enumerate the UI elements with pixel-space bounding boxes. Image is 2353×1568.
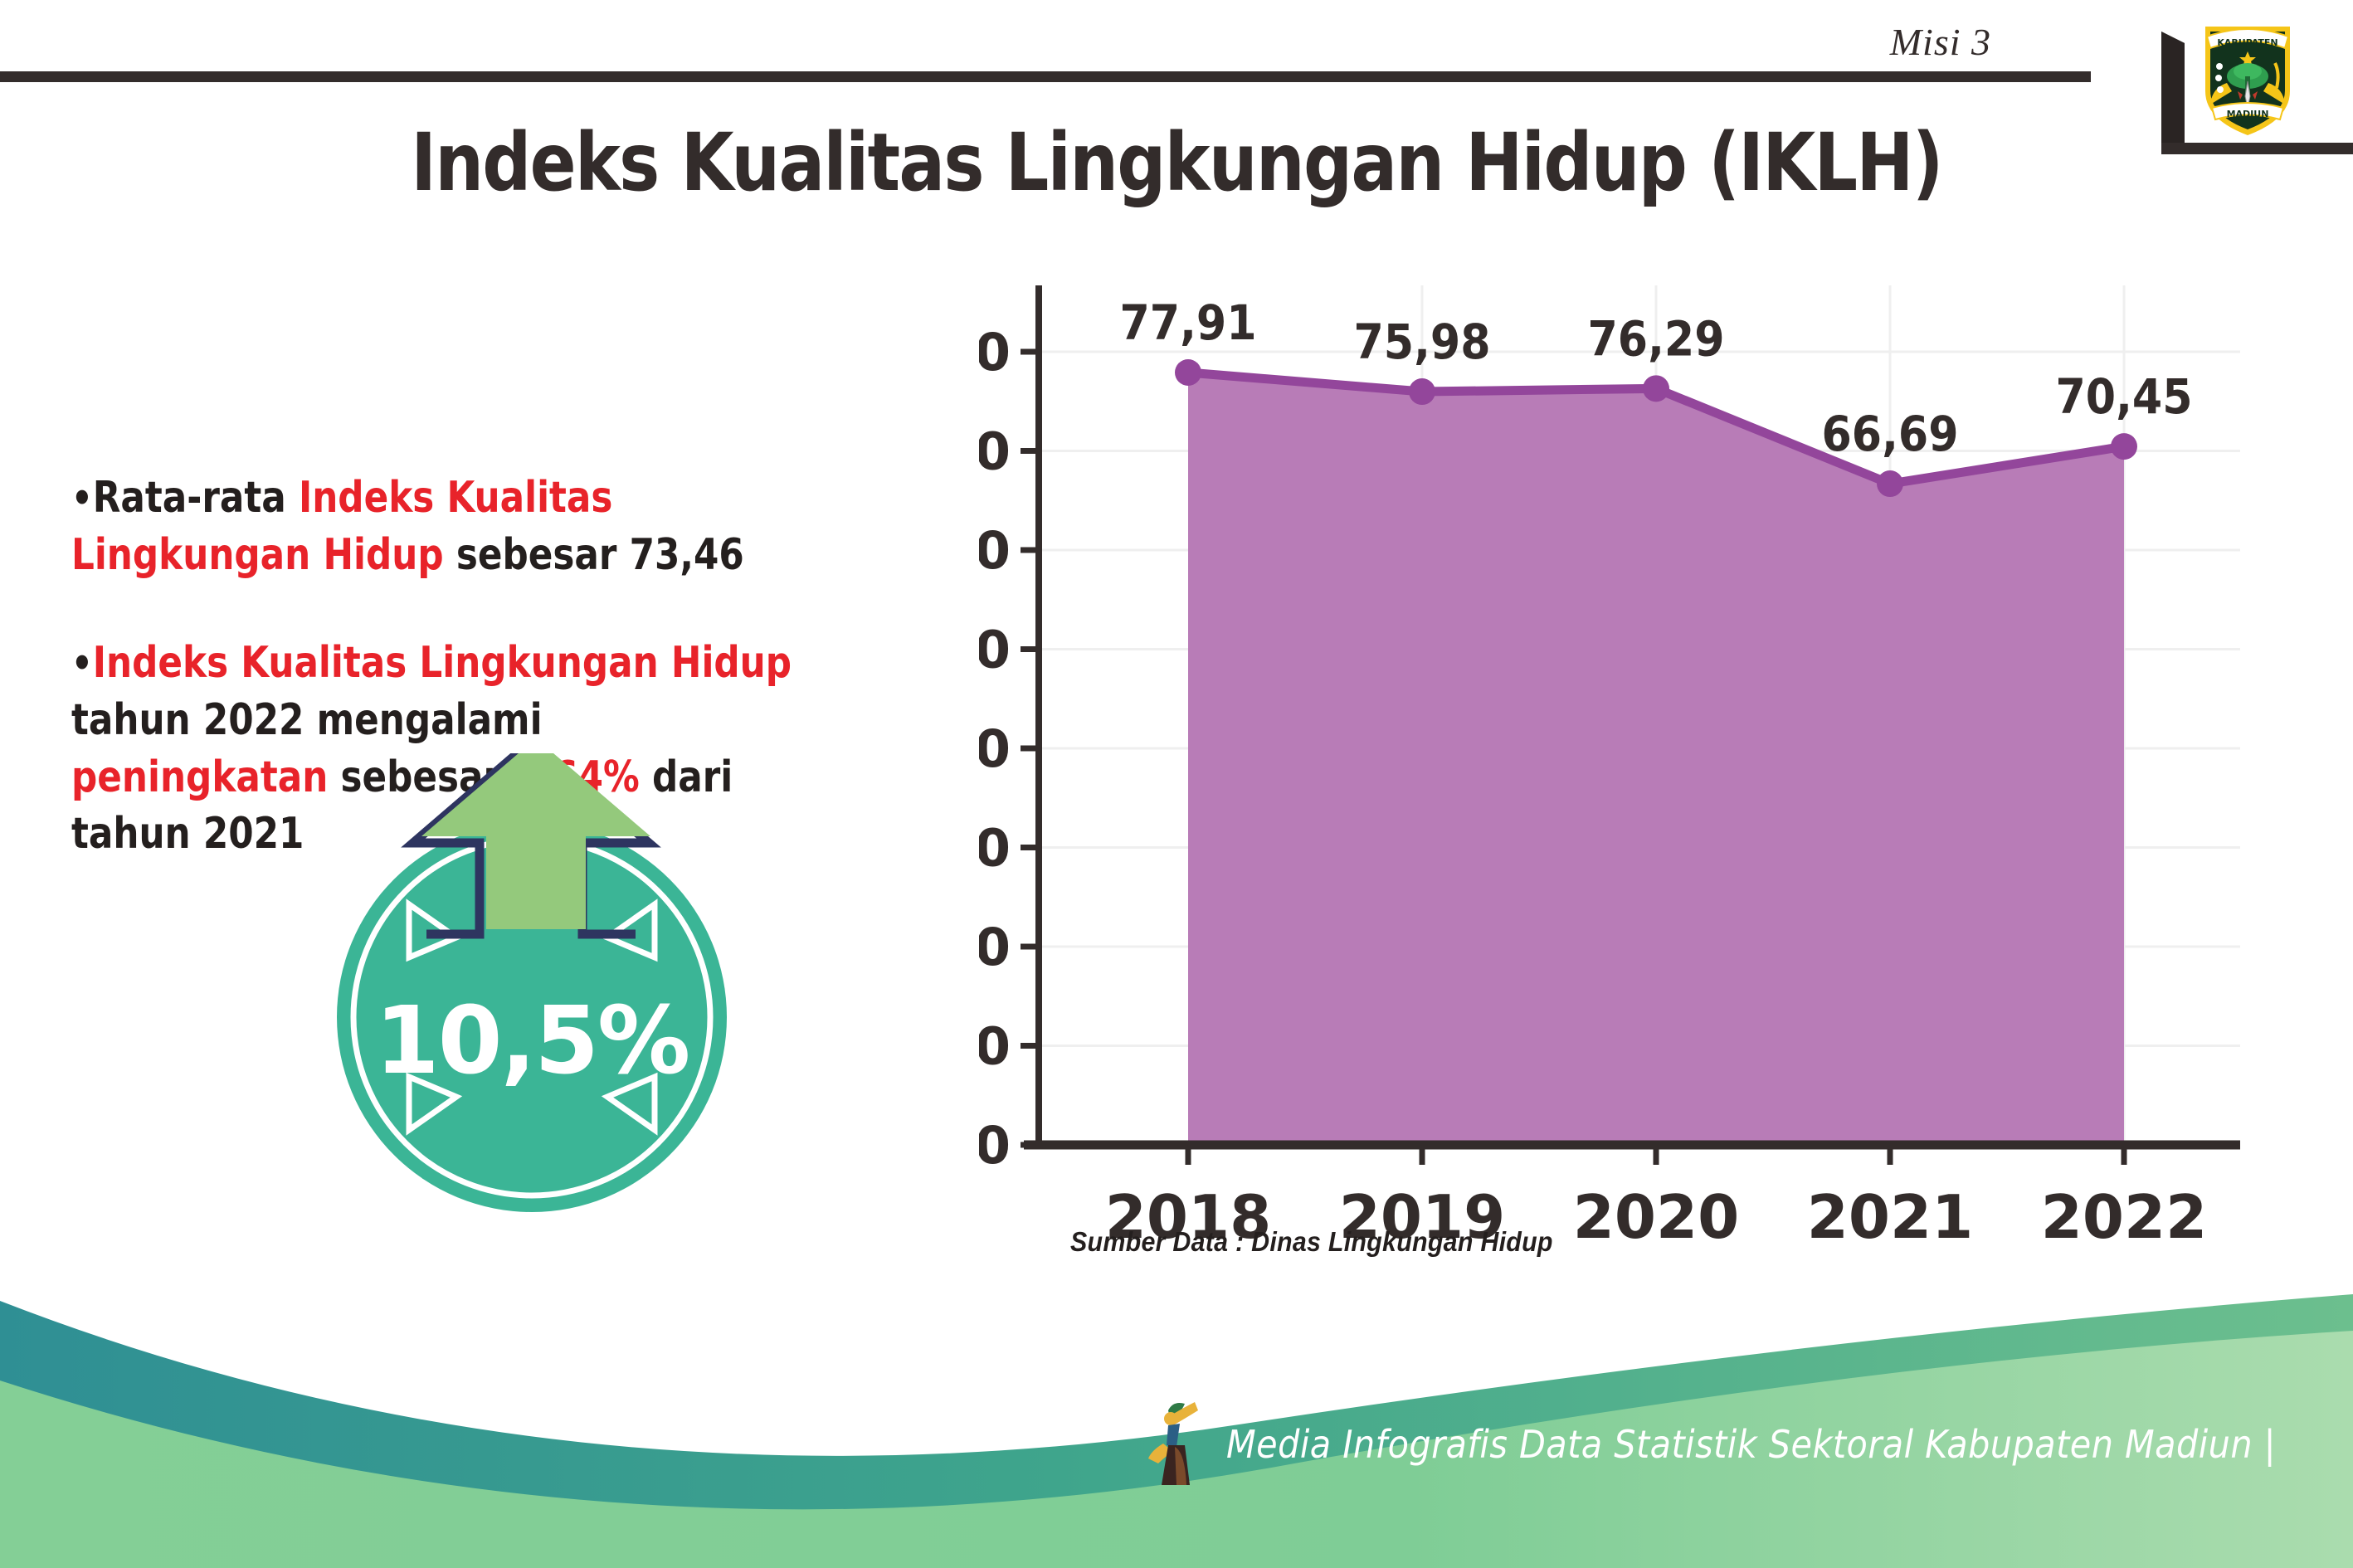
chart-y-tick-label: 50 [979,620,1011,680]
bullet-text-run: Rata-rata [93,473,299,523]
dancer-figure-logo-icon [1143,1394,1220,1493]
bullet-dot-icon: • [71,640,93,687]
chart-data-label: 76,29 [1587,312,1724,368]
header-divider-rule [0,71,2091,82]
bullet-text-run: Indeks Kualitas Lingkungan Hidup [93,638,792,688]
chart-data-label: 70,45 [2055,370,2192,426]
kabupaten-madiun-logo-icon: KABUPATEN MADIUN [2199,15,2297,138]
chart-y-tick-label: 10 [979,1016,1011,1077]
mission-label: Misi 3 [1890,20,1991,64]
footer-band: Media Infografis Data Statistik Sektoral… [0,1278,2353,1568]
chart-canvas: 77,9175,9876,2966,6970,45010203040506070… [979,274,2273,1303]
chart-data-point [1643,375,1669,402]
chart-y-tick-label: 0 [979,1115,1011,1176]
badge-graphic [330,753,770,1218]
page-title: Indeks Kualitas Lingkungan Hidup (IKLH) [165,116,2189,209]
chart-data-point [1409,378,1435,405]
bullet-text-run: peningkatan [71,752,328,802]
chart-data-point [1877,470,1903,497]
slide-canvas: Misi 3 KABUPATEN MADIUN Indeks Kua [0,0,2353,1568]
chart-area-fill [1188,373,2124,1145]
badge-value: 10,5% [330,987,733,1095]
footer-caption: Media Infografis Data Statistik Sektoral… [1226,1422,2276,1467]
chart-y-tick-label: 60 [979,520,1011,581]
iklh-area-chart: 77,9175,9876,2966,6970,45010203040506070… [979,274,2273,1303]
bullet-text-run: tahun 2022 mengalami [71,695,543,745]
bullet-text-run: sebesar 73,46 [444,530,744,580]
bullet-dot-icon: • [71,475,93,522]
chart-y-tick-label: 20 [979,917,1011,977]
chart-y-tick-label: 80 [979,322,1011,382]
logo-top-text: KABUPATEN [2217,37,2277,48]
chart-data-point [1175,359,1201,386]
chart-data-label: 75,98 [1353,314,1490,370]
list-item: •Rata-rata Indeks Kualitas Lingkungan Hi… [71,470,810,583]
chart-data-label: 66,69 [1821,407,1958,462]
logo-bottom-text: MADIUN [2227,109,2269,119]
chart-y-tick-label: 70 [979,421,1011,482]
increase-badge: 10,5% [330,753,770,1218]
source-note: Sumber Data : Dinas Lingkungan Hidup [1070,1226,1553,1258]
chart-y-tick-label: 30 [979,818,1011,879]
chart-x-tick-label: 2020 [1573,1182,1739,1252]
chart-y-tick-label: 40 [979,718,1011,779]
chart-data-point [2111,433,2137,460]
chart-data-label: 77,91 [1119,295,1256,351]
chart-x-tick-label: 2021 [1807,1182,1973,1252]
chart-x-tick-label: 2022 [2041,1182,2207,1252]
